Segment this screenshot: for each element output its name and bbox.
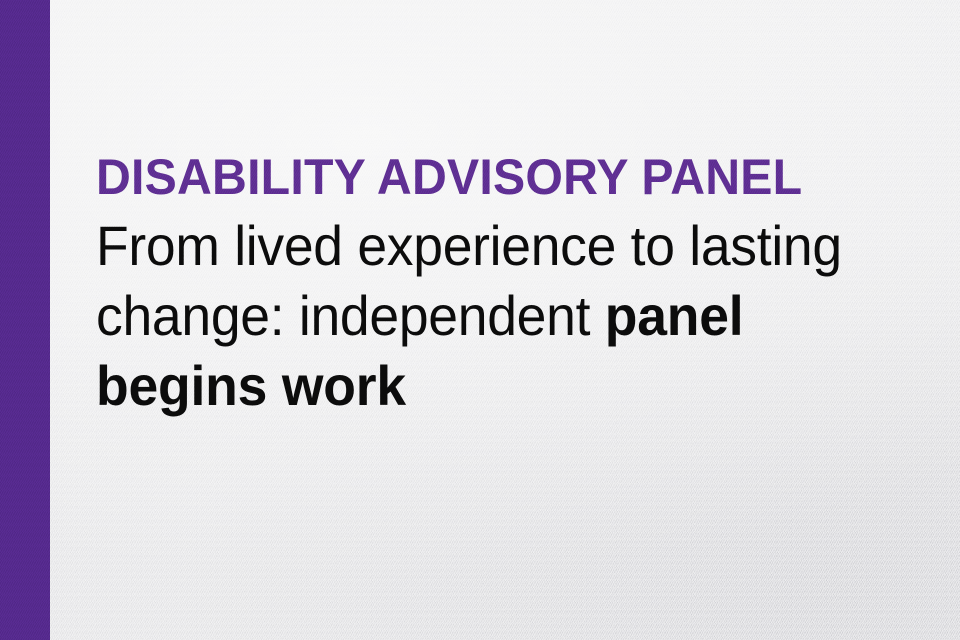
- headline: From lived experience to lasting change:…: [96, 211, 889, 421]
- banner-text-block: Disability Advisory Panel From lived exp…: [96, 150, 926, 421]
- kicker-label: Disability Advisory Panel: [96, 150, 897, 205]
- left-accent-bar: [0, 0, 50, 640]
- promo-banner: Disability Advisory Panel From lived exp…: [0, 0, 960, 640]
